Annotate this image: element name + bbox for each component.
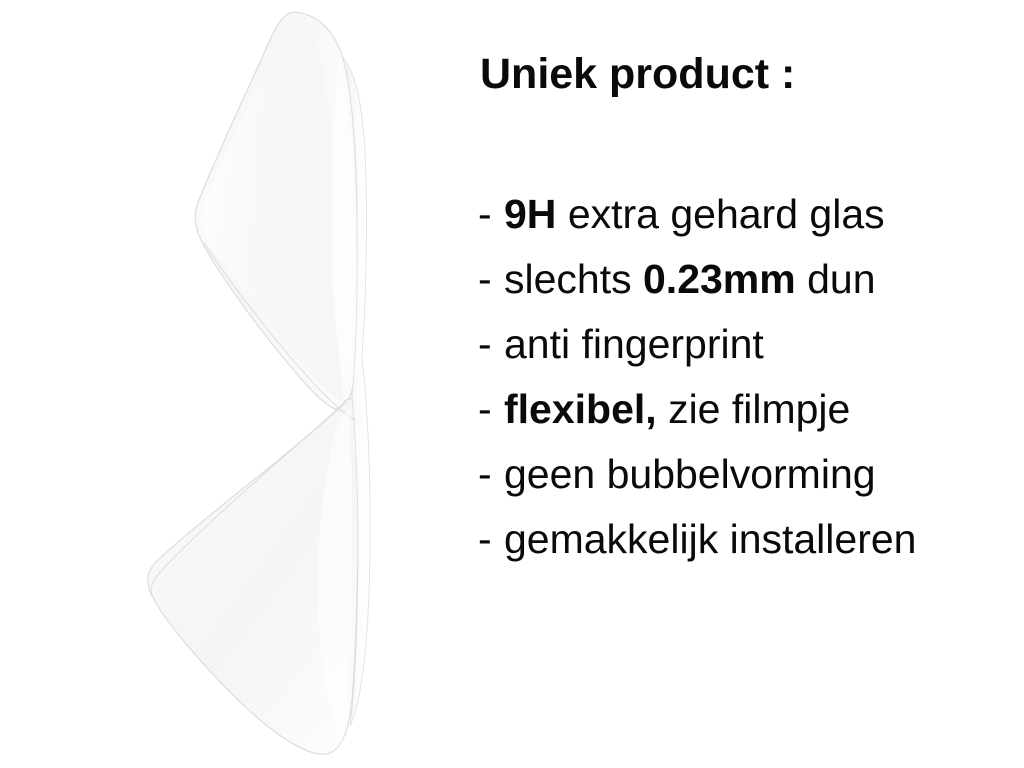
feature-highlight: flexibel, bbox=[504, 386, 657, 432]
feature-text: extra gehard glas bbox=[556, 191, 884, 237]
product-text-panel: Uniek product : -9H extra gehard glas -s… bbox=[478, 0, 1024, 768]
page-title: Uniek product : bbox=[480, 52, 795, 97]
feature-text: anti fingerprint bbox=[504, 321, 764, 367]
feature-text: zie filmpje bbox=[657, 386, 851, 432]
feature-item-flexible: -flexibel, zie filmpje bbox=[478, 377, 916, 442]
bullet-dash: - bbox=[478, 182, 504, 247]
product-promo-page: Uniek product : -9H extra gehard glas -s… bbox=[0, 0, 1024, 768]
feature-item-easy-install: -gemakkelijk installeren bbox=[478, 507, 916, 572]
bullet-dash: - bbox=[478, 507, 504, 572]
feature-item-no-bubbles: -geen bubbelvorming bbox=[478, 442, 916, 507]
twisted-glass-illustration bbox=[0, 0, 440, 768]
feature-highlight: 9H bbox=[504, 191, 556, 237]
feature-item-thickness: -slechts 0.23mm dun bbox=[478, 247, 916, 312]
feature-item-9h: -9H extra gehard glas bbox=[478, 182, 916, 247]
feature-item-fingerprint: -anti fingerprint bbox=[478, 312, 916, 377]
feature-text: dun bbox=[796, 256, 876, 302]
bullet-dash: - bbox=[478, 377, 504, 442]
feature-highlight: 0.23mm bbox=[643, 256, 796, 302]
bullet-dash: - bbox=[478, 247, 504, 312]
bullet-dash: - bbox=[478, 442, 504, 507]
feature-text: geen bubbelvorming bbox=[504, 451, 876, 497]
bullet-dash: - bbox=[478, 312, 504, 377]
feature-list: -9H extra gehard glas -slechts 0.23mm du… bbox=[478, 182, 916, 572]
product-image bbox=[0, 0, 440, 768]
feature-text: slechts bbox=[504, 256, 643, 302]
feature-text: gemakkelijk installeren bbox=[504, 516, 916, 562]
